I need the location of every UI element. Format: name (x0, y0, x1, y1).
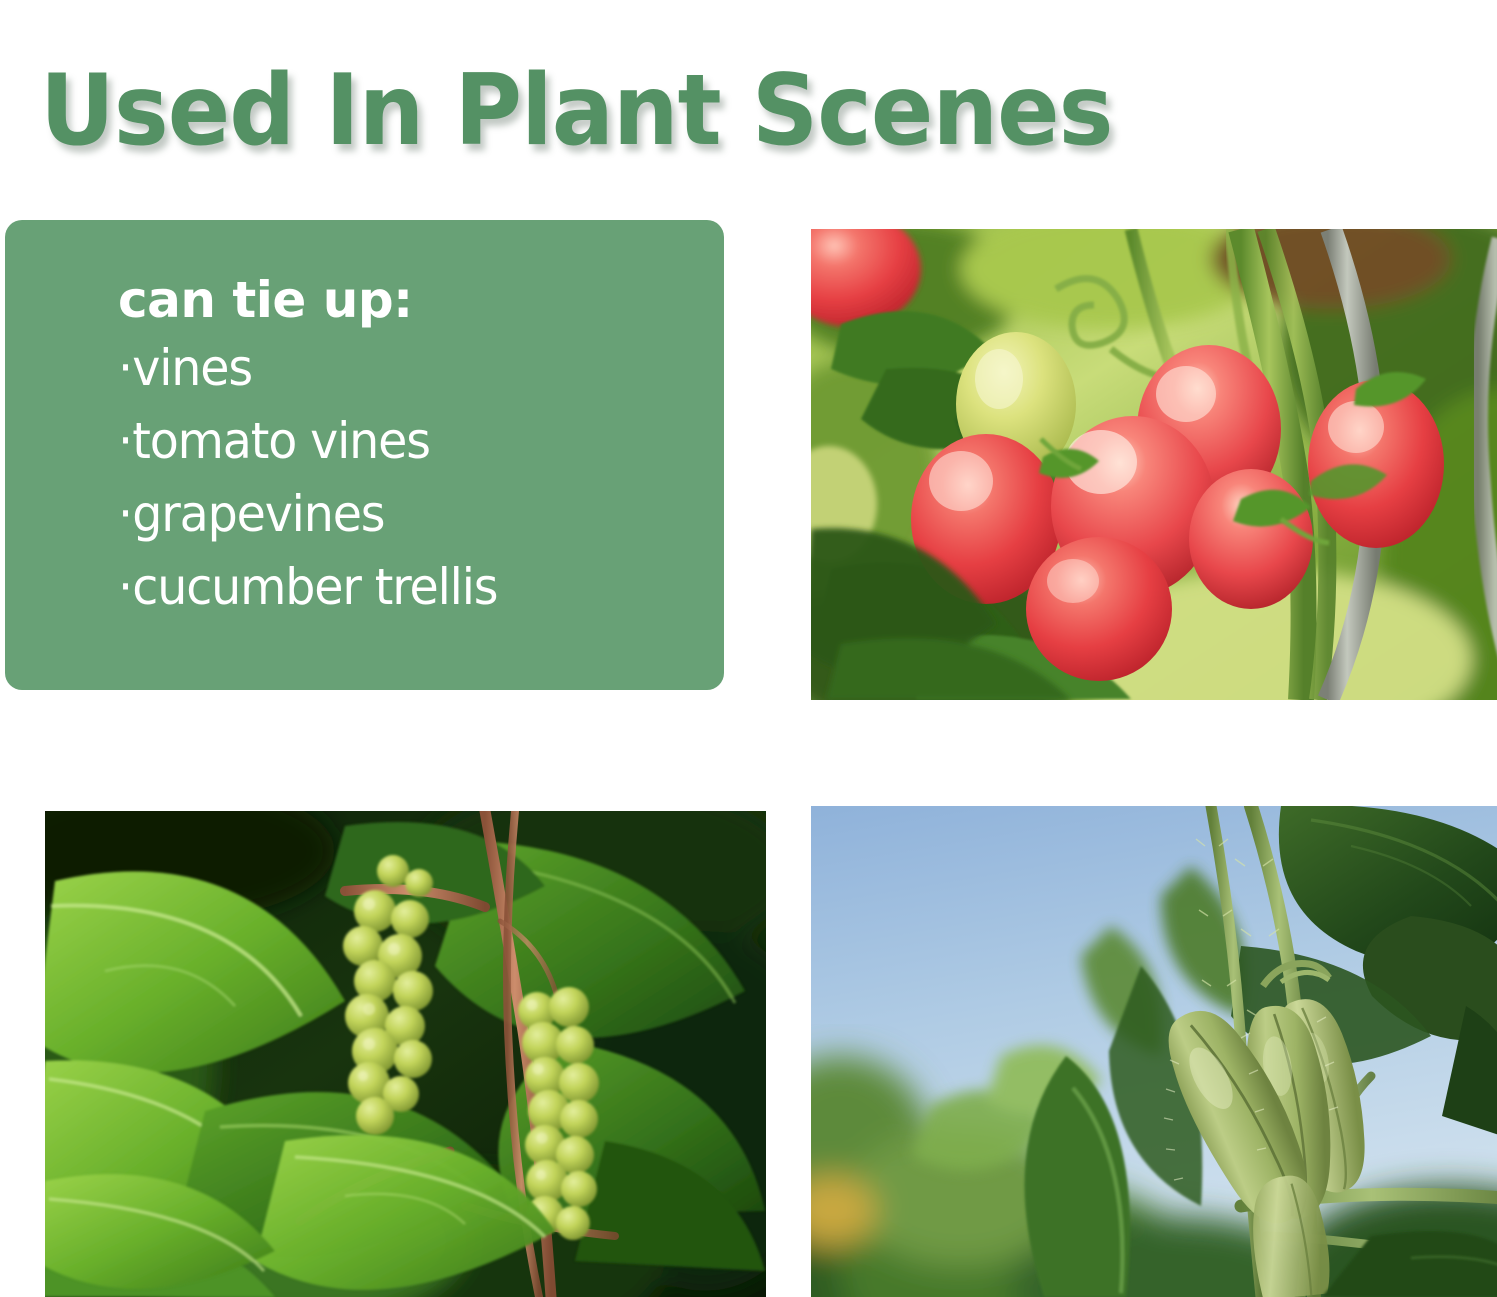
info-card: can tie up: ·vines ·tomato vines ·grapev… (5, 220, 724, 690)
bullet-icon: · (118, 405, 132, 478)
list-item-label: cucumber trellis (132, 558, 497, 616)
green-berry-vine-photo (45, 811, 766, 1297)
tomato-vine-photo (811, 229, 1497, 700)
list-item: ·grapevines (118, 478, 671, 551)
info-card-heading: can tie up: (118, 270, 700, 330)
page-title: Used In Plant Scenes (40, 60, 1113, 163)
soybean-pods-photo (811, 806, 1497, 1297)
list-item-label: tomato vines (132, 412, 430, 470)
bullet-icon: · (118, 478, 132, 551)
list-item: ·cucumber trellis (118, 551, 671, 624)
list-item: ·vines (118, 332, 671, 405)
info-card-list: ·vines ·tomato vines ·grapevines ·cucumb… (118, 332, 700, 624)
list-item-label: grapevines (132, 485, 384, 543)
bullet-icon: · (118, 332, 132, 405)
list-item: ·tomato vines (118, 405, 671, 478)
bullet-icon: · (118, 551, 132, 624)
list-item-label: vines (132, 339, 252, 397)
